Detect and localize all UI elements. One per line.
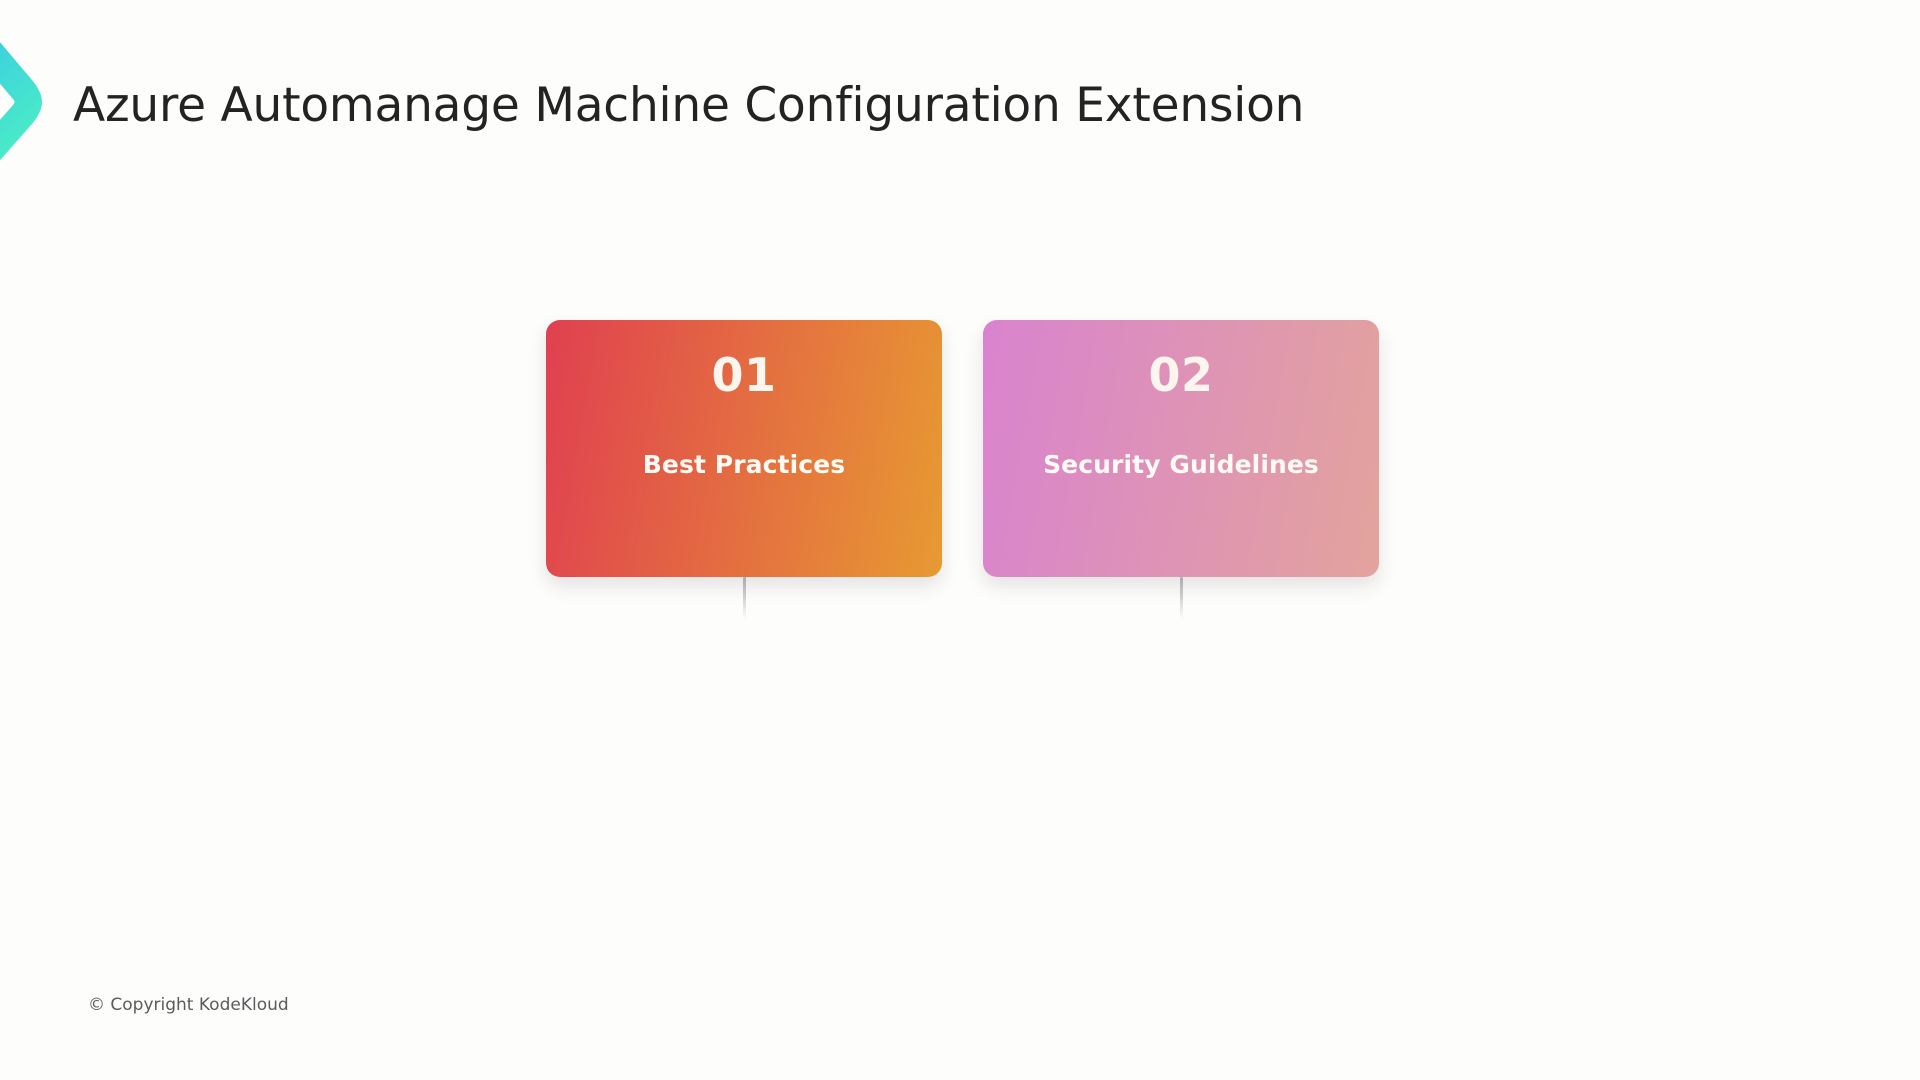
card-item-1-wrapper: 01 Best Practices — [546, 320, 942, 619]
card-best-practices[interactable]: 01 Best Practices — [546, 320, 942, 577]
card-connector-stem — [1180, 577, 1183, 619]
card-label: Security Guidelines — [1043, 450, 1319, 479]
slide-canvas: Azure Automanage Machine Configuration E… — [0, 0, 1920, 1080]
card-security-guidelines[interactable]: 02 Security Guidelines — [983, 320, 1379, 577]
card-connector-stem — [743, 577, 746, 619]
card-row: 01 Best Practices 02 Security Guidelines — [546, 320, 1379, 619]
card-number: 02 — [1148, 352, 1213, 398]
card-label: Best Practices — [643, 450, 845, 479]
card-number: 01 — [711, 352, 776, 398]
kodekloud-chevron-logo-icon — [0, 18, 78, 173]
card-item-2-wrapper: 02 Security Guidelines — [983, 320, 1379, 619]
page-title: Azure Automanage Machine Configuration E… — [73, 78, 1304, 133]
copyright-footer: © Copyright KodeKloud — [88, 995, 289, 1015]
